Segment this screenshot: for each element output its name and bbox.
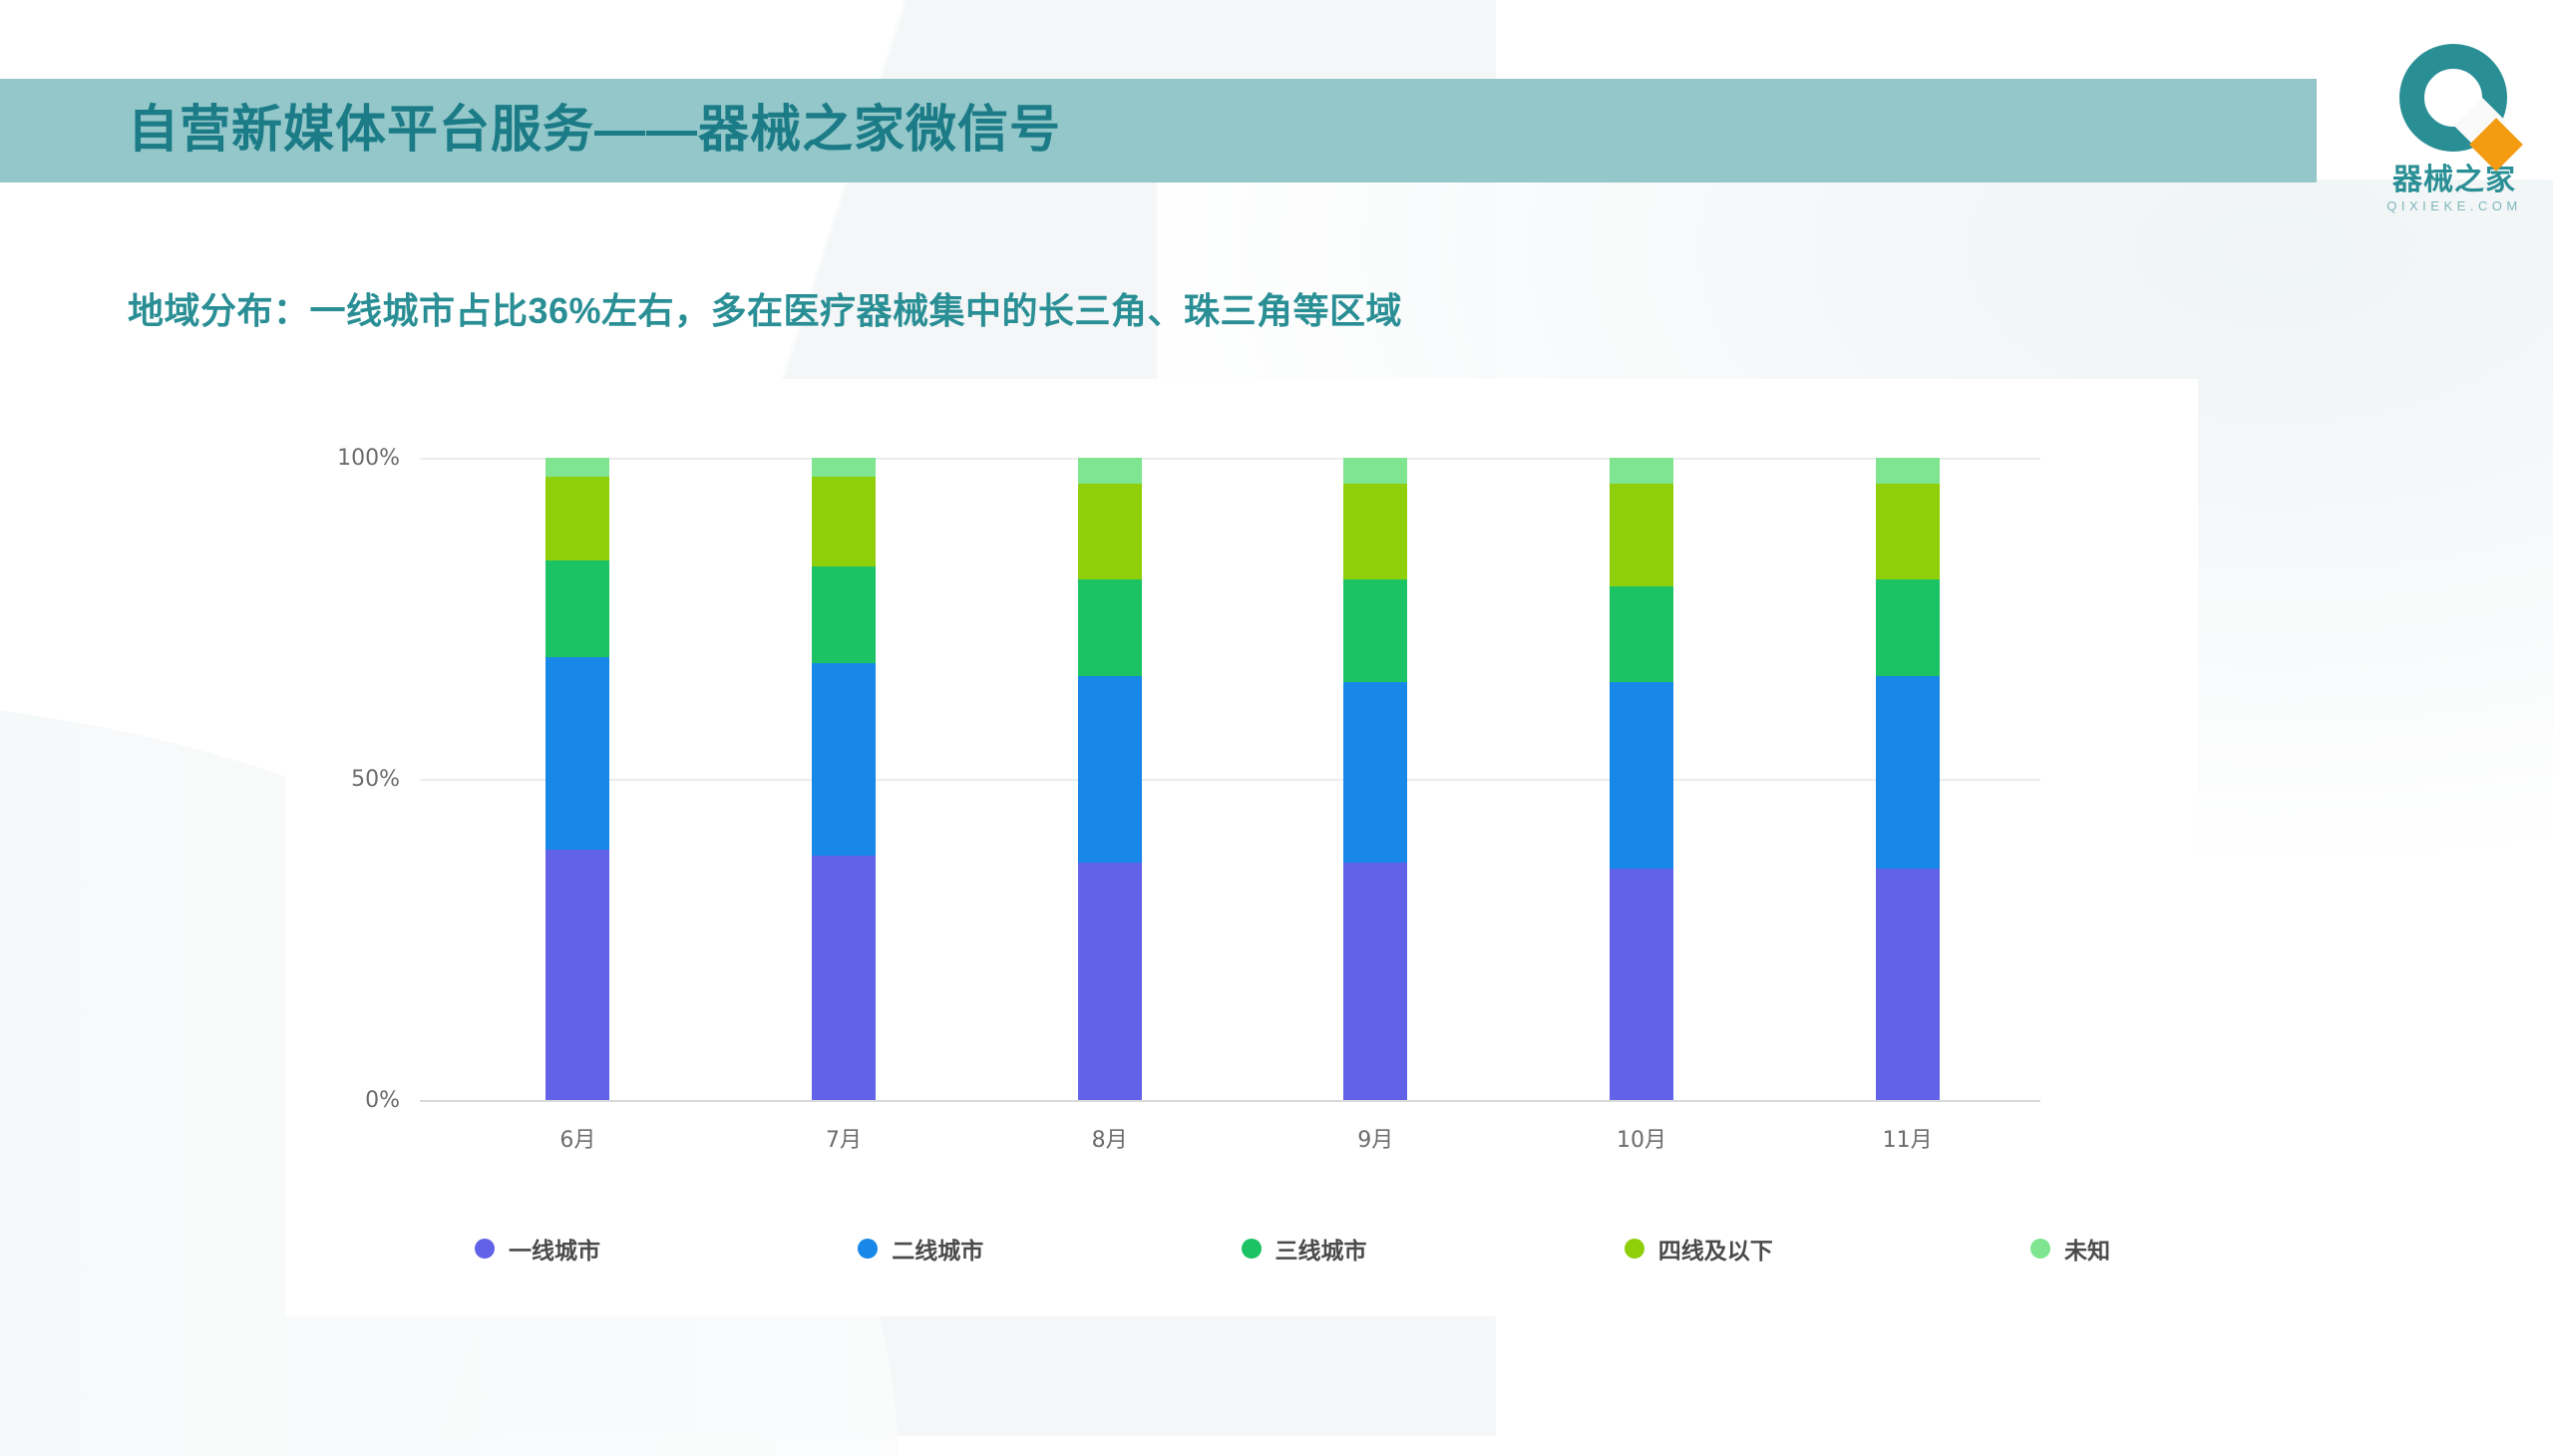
bar-segment[interactable] [812,458,876,477]
stacked-bar[interactable] [546,458,609,1100]
bar-segment[interactable] [1343,458,1407,484]
brand-logo: 器械之家 QIXIEKE.COM [2374,42,2534,213]
bar-segment[interactable] [1078,484,1142,580]
legend-dot-icon [2030,1239,2050,1259]
bar-segment[interactable] [1876,869,1940,1100]
bar-segment[interactable] [1610,484,1673,586]
legend-label: 二线城市 [892,1232,983,1266]
logo-name-cn: 器械之家 [2374,164,2534,197]
bar-segment[interactable] [1078,458,1142,484]
legend-dot-icon [1625,1239,1644,1259]
bar-segment[interactable] [1876,458,1940,484]
bar-segment[interactable] [1343,579,1407,682]
bar-column [751,458,936,1100]
legend-label: 四线及以下 [1658,1232,1773,1266]
bar-segment[interactable] [1610,586,1673,683]
bar-column [1282,458,1468,1100]
bar-segment[interactable] [546,560,609,657]
x-axis-label: 6月 [485,1122,670,1154]
bar-segment[interactable] [1078,863,1142,1100]
bar-segment[interactable] [1610,458,1673,484]
stacked-bar[interactable] [812,458,876,1100]
legend-dot-icon [475,1239,495,1259]
logo-q-icon [2391,42,2517,168]
stacked-bar[interactable] [1876,458,1940,1100]
legend-item[interactable]: 一线城市 [475,1232,600,1266]
legend-dot-icon [858,1239,878,1259]
bar-column [1017,458,1203,1100]
chart-card: 100% 50% 0% 6月7月8月9月10月11月 一线城市二线城市三线城市四… [285,379,2198,1316]
bar-segment[interactable] [546,657,609,850]
y-axis-tick-50: 50% [285,767,400,792]
bar-segment[interactable] [1078,676,1142,863]
bar-segment[interactable] [1876,676,1940,869]
stacked-bars-container [445,458,2040,1100]
bar-segment[interactable] [812,663,876,856]
legend-label: 三线城市 [1276,1232,1367,1266]
x-axis-label: 11月 [1815,1122,2001,1154]
chart-plot-area: 100% 50% 0% 6月7月8月9月10月11月 [285,379,2198,1137]
bar-column [1815,458,2001,1100]
bar-segment[interactable] [812,856,876,1100]
bar-segment[interactable] [1876,484,1940,580]
chart-legend: 一线城市二线城市三线城市四线及以下未知 [475,1232,2110,1266]
x-axis-label: 7月 [751,1122,936,1154]
bar-segment[interactable] [1343,484,1407,580]
logo-name-en: QIXIEKE.COM [2374,197,2534,215]
legend-item[interactable]: 三线城市 [1242,1232,1367,1266]
bar-segment[interactable] [812,477,876,566]
legend-label: 一线城市 [509,1232,600,1266]
bar-segment[interactable] [1876,579,1940,676]
stacked-bar[interactable] [1343,458,1407,1100]
bar-segment[interactable] [1078,579,1142,676]
x-axis-label: 9月 [1282,1122,1468,1154]
bar-segment[interactable] [1343,682,1407,862]
legend-label: 未知 [2064,1232,2110,1266]
x-axis-label: 10月 [1549,1122,1734,1154]
bar-segment[interactable] [546,458,609,477]
legend-item[interactable]: 二线城市 [858,1232,983,1266]
bar-column [1549,458,1734,1100]
bar-segment[interactable] [1610,869,1673,1100]
bar-segment[interactable] [812,566,876,663]
y-axis-tick-0: 0% [285,1088,400,1113]
stacked-bar[interactable] [1078,458,1142,1100]
x-axis-labels: 6月7月8月9月10月11月 [445,1122,2040,1154]
y-axis-tick-100: 100% [285,446,400,471]
stacked-bar[interactable] [1610,458,1673,1100]
legend-item[interactable]: 四线及以下 [1625,1232,1773,1266]
bar-segment[interactable] [546,477,609,560]
bar-segment[interactable] [1343,863,1407,1100]
x-axis-label: 8月 [1017,1122,1203,1154]
legend-dot-icon [1242,1239,1262,1259]
bar-segment[interactable] [1610,682,1673,869]
bar-column [485,458,670,1100]
page-title: 自营新媒体平台服务——器械之家微信号 [128,96,1061,164]
bar-segment[interactable] [546,850,609,1100]
legend-item[interactable]: 未知 [2030,1232,2110,1266]
section-subtitle: 地域分布：一线城市占比36%左右，多在医疗器械集中的长三角、珠三角等区域 [128,282,1402,334]
